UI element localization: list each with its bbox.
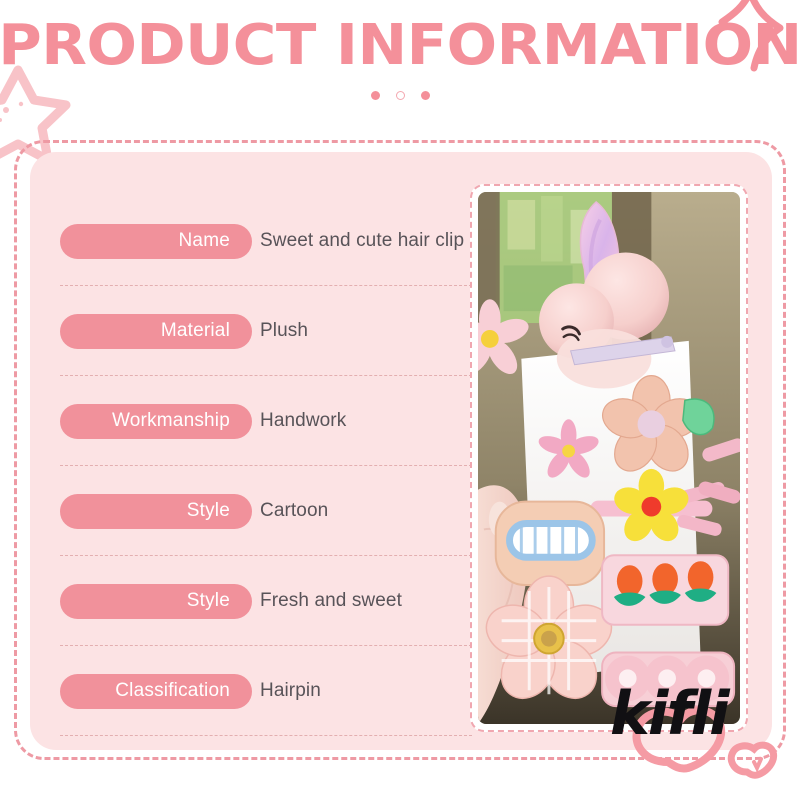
table-row: Material Plush: [60, 286, 472, 376]
table-row: Style Cartoon: [60, 466, 472, 556]
page-title: PRODUCT INFORMATION: [0, 18, 800, 74]
spec-label: Workmanship: [60, 404, 252, 439]
spec-table: Name Sweet and cute hair clip Material P…: [60, 196, 472, 736]
table-row: Classification Hairpin: [60, 646, 472, 736]
page-header: PRODUCT INFORMATION: [0, 18, 800, 100]
spec-label: Style: [60, 494, 252, 529]
product-photo-frame: [470, 184, 748, 732]
spec-value: Sweet and cute hair clip: [260, 230, 464, 252]
row-separator: [60, 735, 472, 736]
spec-label: Name: [60, 224, 252, 259]
spec-value: Fresh and sweet: [260, 590, 402, 612]
title-dots: [0, 91, 800, 100]
title-dot-1: [371, 91, 380, 100]
product-photo: [478, 192, 740, 724]
title-dot-2: [396, 91, 405, 100]
spec-label: Classification: [60, 674, 252, 709]
spec-label: Style: [60, 584, 252, 619]
spec-value: Cartoon: [260, 500, 328, 522]
spec-label: Material: [60, 314, 252, 349]
title-dot-3: [421, 91, 430, 100]
table-row: Workmanship Handwork: [60, 376, 472, 466]
spec-value: Plush: [260, 320, 308, 342]
table-row: Style Fresh and sweet: [60, 556, 472, 646]
spec-value: Hairpin: [260, 680, 321, 702]
spec-value: Handwork: [260, 410, 346, 432]
table-row: Name Sweet and cute hair clip: [60, 196, 472, 286]
